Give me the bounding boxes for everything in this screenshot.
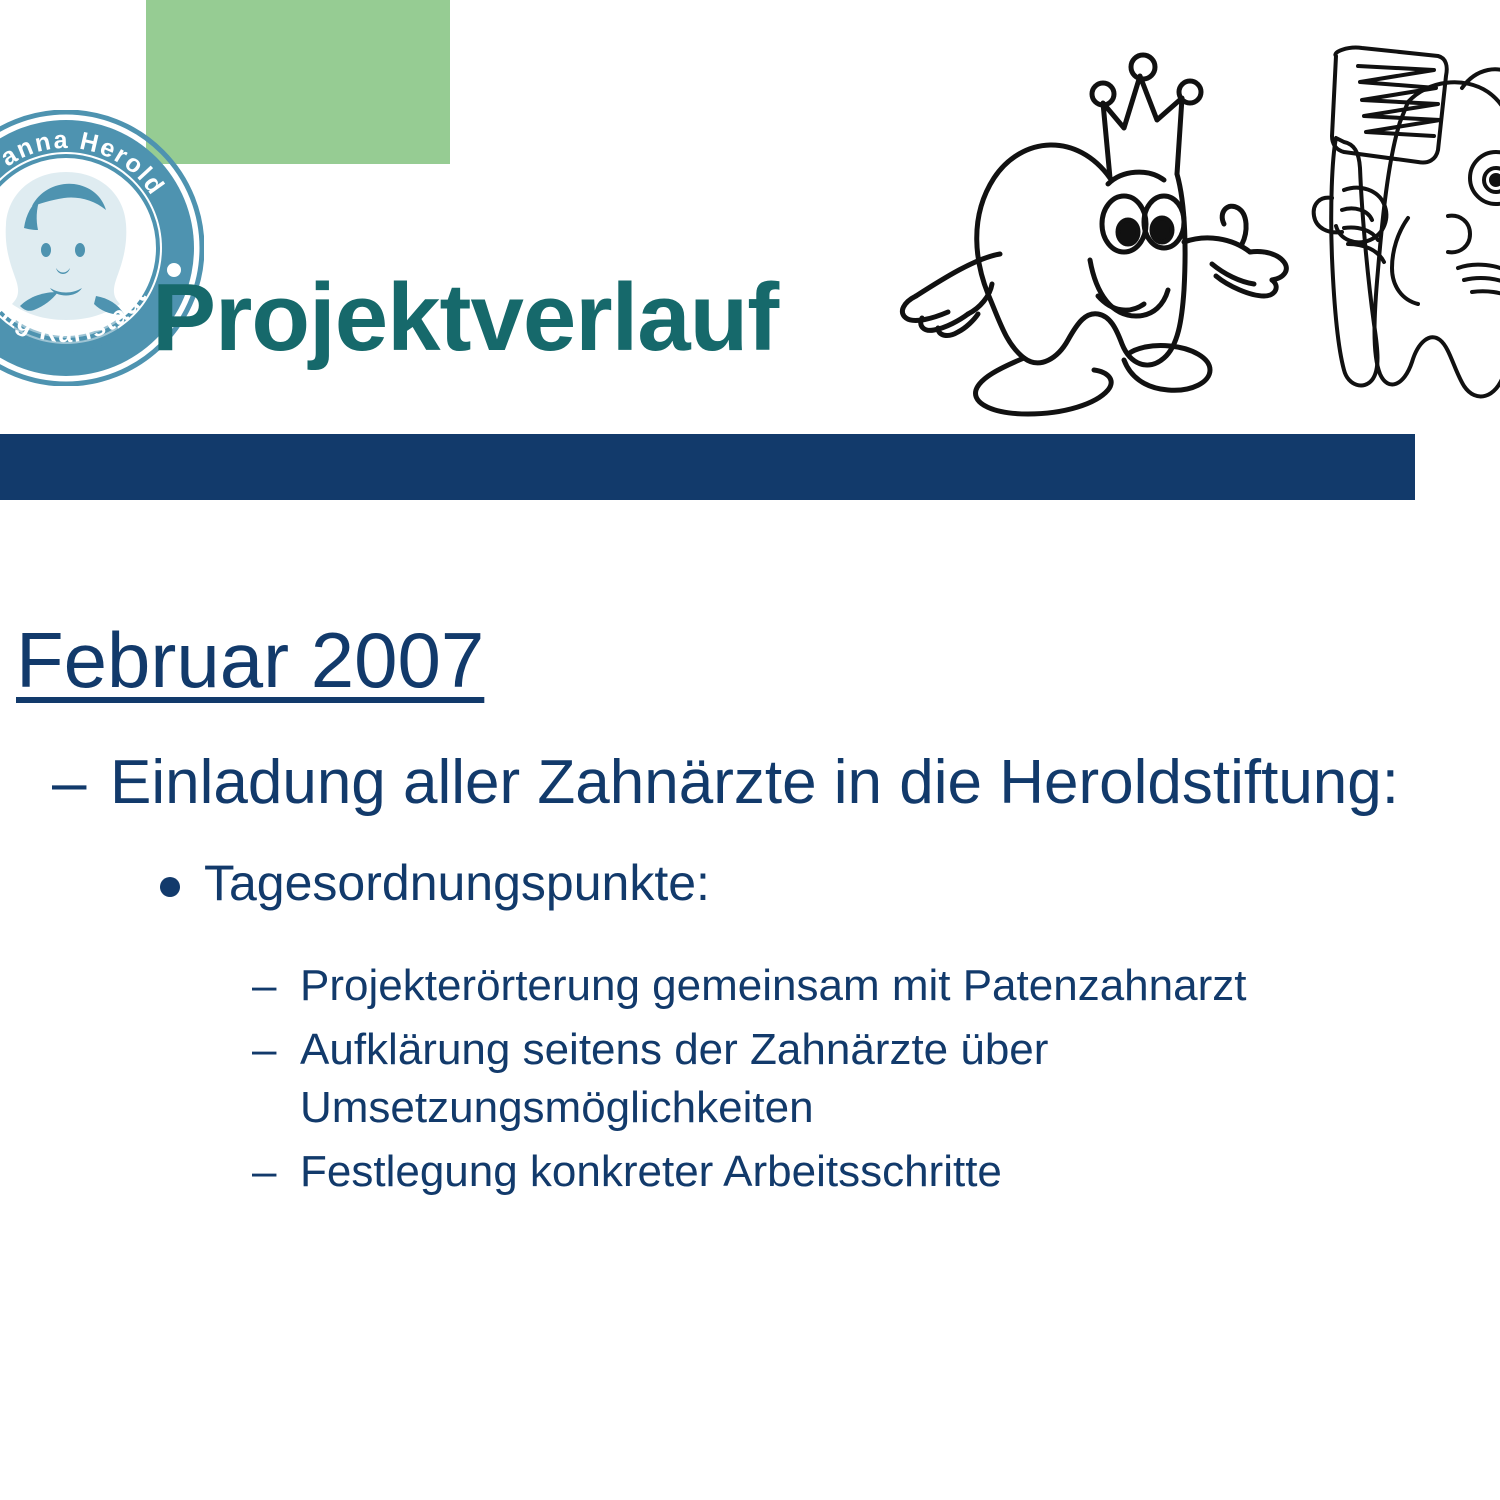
- tooth-with-toothbrush-mascot-icon: [1292, 18, 1500, 422]
- bullet-level3: Tagesordnungspunkte:: [0, 855, 1500, 911]
- dash-bullet-icon: –: [52, 748, 86, 817]
- list-item-text: Aufklärung seitens der Zahnärzte über Um…: [300, 1025, 1048, 1132]
- section-heading-text: Februar 2007: [16, 616, 484, 704]
- list-item: – Aufklärung seitens der Zahnärzte über …: [0, 1021, 1480, 1137]
- bullet-level2-text: Einladung aller Zahnärzte in die Herolds…: [110, 748, 1399, 817]
- navy-divider-bar: [0, 434, 1415, 500]
- list-item: – Projekterörterung gemeinsam mit Patenz…: [0, 957, 1480, 1015]
- list-item-text: Projekterörterung gemeinsam mit Patenzah…: [300, 961, 1246, 1010]
- bullet-level4-list: – Projekterörterung gemeinsam mit Patenz…: [0, 957, 1500, 1201]
- dash-bullet-icon: –: [252, 957, 276, 1015]
- dash-bullet-icon: –: [252, 1021, 276, 1079]
- slide-title: Projektverlauf: [152, 268, 778, 369]
- section-heading: Februar 2007: [0, 618, 1500, 704]
- dash-bullet-icon: –: [252, 1143, 276, 1201]
- slide-body: Februar 2007 – Einladung aller Zahnärzte…: [0, 618, 1500, 1208]
- list-item-text: Festlegung konkreter Arbeitsschritte: [300, 1147, 1002, 1196]
- presentation-slide: anna Herold ung Karlstadt Projektverlauf: [0, 0, 1500, 1500]
- round-bullet-icon: [160, 877, 180, 897]
- bullet-level3-text: Tagesordnungspunkte:: [204, 855, 710, 911]
- list-item: – Festlegung konkreter Arbeitsschritte: [0, 1143, 1480, 1201]
- bullet-level2: – Einladung aller Zahnärzte in die Herol…: [0, 748, 1500, 817]
- tooth-king-mascot-icon: [872, 28, 1292, 420]
